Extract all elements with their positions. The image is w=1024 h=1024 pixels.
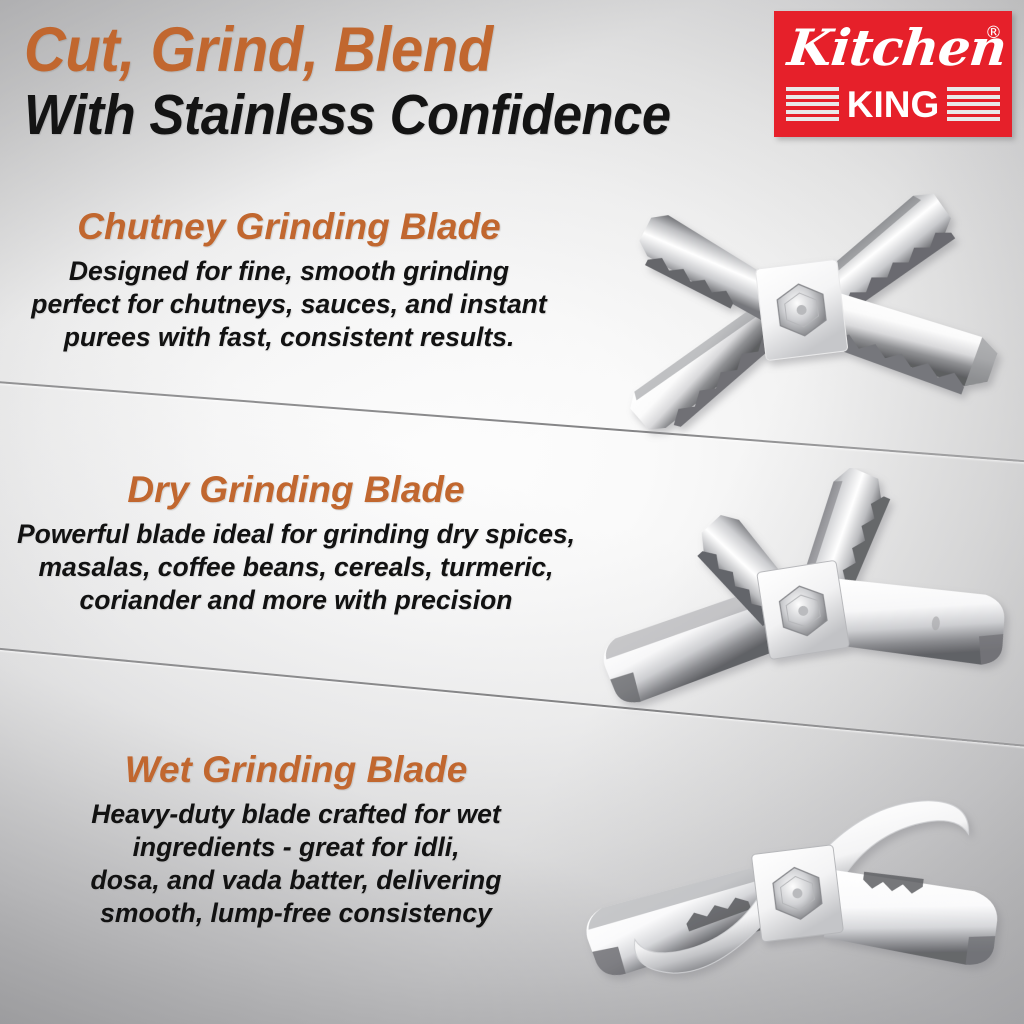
brand-logo-script-text: Kitchen <box>785 17 996 79</box>
logo-stripes-left <box>786 87 839 121</box>
section-heading: Wet Grinding Blade <box>0 748 592 792</box>
body-line: smooth, lump-free consistency <box>0 897 592 930</box>
registered-trademark-icon: ® <box>985 25 1002 42</box>
chutney-grinding-blade-photo <box>578 160 1024 450</box>
brand-logo: Kitchen ® KING <box>774 11 1012 137</box>
body-line: Heavy-duty blade crafted for wet <box>0 798 592 831</box>
poster-canvas: Cut, Grind, Blend With Stainless Confide… <box>0 0 1024 1024</box>
body-line: coriander and more with precision <box>0 584 592 617</box>
body-line: perfect for chutneys, sauces, and instan… <box>0 288 578 321</box>
brand-logo-block-text: KING <box>843 86 944 123</box>
section-dry-grinding-blade: Dry Grinding Blade Powerful blade ideal … <box>0 468 592 617</box>
body-line: ingredients - great for idli, <box>0 831 592 864</box>
brand-logo-king-row: KING <box>786 83 1000 125</box>
headline-secondary: With Stainless Confidence <box>24 82 671 148</box>
section-body: Heavy-duty blade crafted for wet ingredi… <box>0 798 592 930</box>
wet-grinding-blade-photo <box>560 752 1024 1024</box>
body-line: purees with fast, consistent results. <box>0 321 578 354</box>
section-heading: Chutney Grinding Blade <box>0 205 578 249</box>
section-chutney-grinding-blade: Chutney Grinding Blade Designed for fine… <box>0 205 578 354</box>
body-line: Designed for fine, smooth grinding <box>0 255 578 288</box>
body-line: Powerful blade ideal for grinding dry sp… <box>0 518 592 551</box>
body-line: masalas, coffee beans, cereals, turmeric… <box>0 551 592 584</box>
section-body: Designed for fine, smooth grinding perfe… <box>0 255 578 354</box>
section-wet-grinding-blade: Wet Grinding Blade Heavy-duty blade craf… <box>0 748 592 930</box>
section-heading: Dry Grinding Blade <box>0 468 592 512</box>
dry-grinding-blade-photo <box>580 468 1024 738</box>
poster-header: Cut, Grind, Blend With Stainless Confide… <box>0 0 1024 160</box>
body-line: dosa, and vada batter, delivering <box>0 864 592 897</box>
section-body: Powerful blade ideal for grinding dry sp… <box>0 518 592 617</box>
headline-primary: Cut, Grind, Blend <box>24 14 493 86</box>
logo-stripes-right <box>947 87 1000 121</box>
